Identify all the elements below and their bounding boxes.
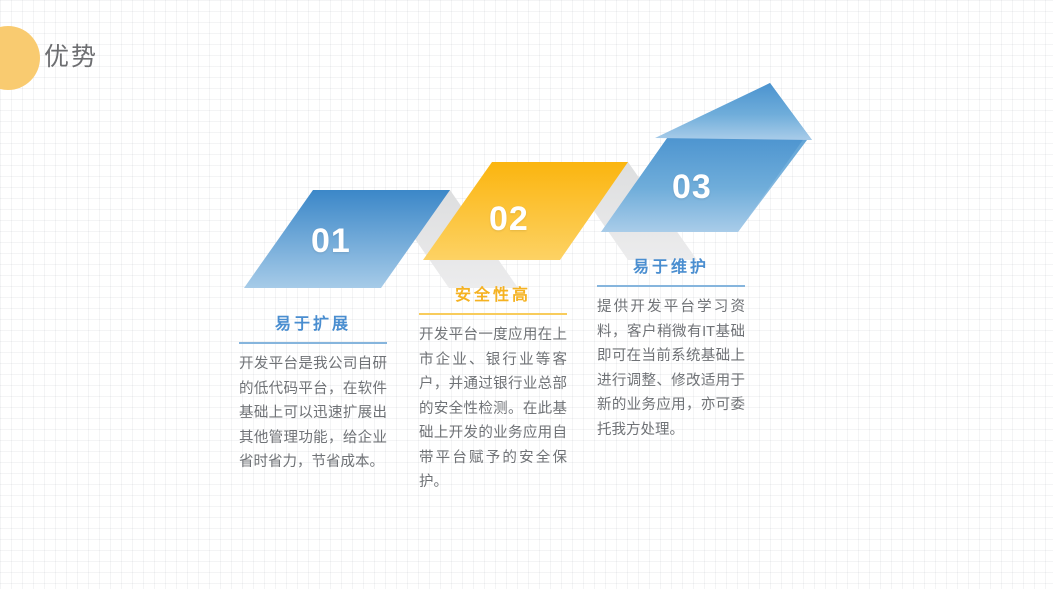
decorative-circle	[0, 26, 40, 90]
step-body-02: 开发平台一度应用在上市企业、银行业等客户，并通过银行业总部的安全性检测。在此基础…	[419, 323, 567, 495]
step-text-column-02: 安全性高 开发平台一度应用在上市企业、银行业等客户，并通过银行业总部的安全性检测…	[419, 285, 567, 495]
step-divider-03	[597, 285, 745, 287]
step-text-column-01: 易于扩展 开发平台是我公司自研的低代码平台，在软件基础上可以迅速扩展出其他管理功…	[239, 314, 387, 475]
step-number-01: 01	[311, 222, 351, 260]
step-title-02: 安全性高	[419, 285, 567, 307]
step-number-03: 03	[672, 168, 712, 206]
step-divider-01	[239, 342, 387, 344]
step-body-01: 开发平台是我公司自研的低代码平台，在软件基础上可以迅速扩展出其他管理功能，给企业…	[239, 352, 387, 475]
step-shape-03	[601, 83, 812, 232]
step-divider-02	[419, 313, 567, 315]
step-body-03: 提供开发平台学习资料，客户稍微有IT基础即可在当前系统基础上进行调整、修改适用于…	[597, 295, 745, 442]
step-title-01: 易于扩展	[239, 314, 387, 336]
step-title-03: 易于维护	[597, 257, 745, 279]
slide-canvas: 优势	[0, 0, 1053, 589]
page-title: 优势	[44, 40, 98, 74]
step-number-02: 02	[489, 200, 529, 238]
step-text-column-03: 易于维护 提供开发平台学习资料，客户稍微有IT基础即可在当前系统基础上进行调整、…	[597, 257, 745, 442]
